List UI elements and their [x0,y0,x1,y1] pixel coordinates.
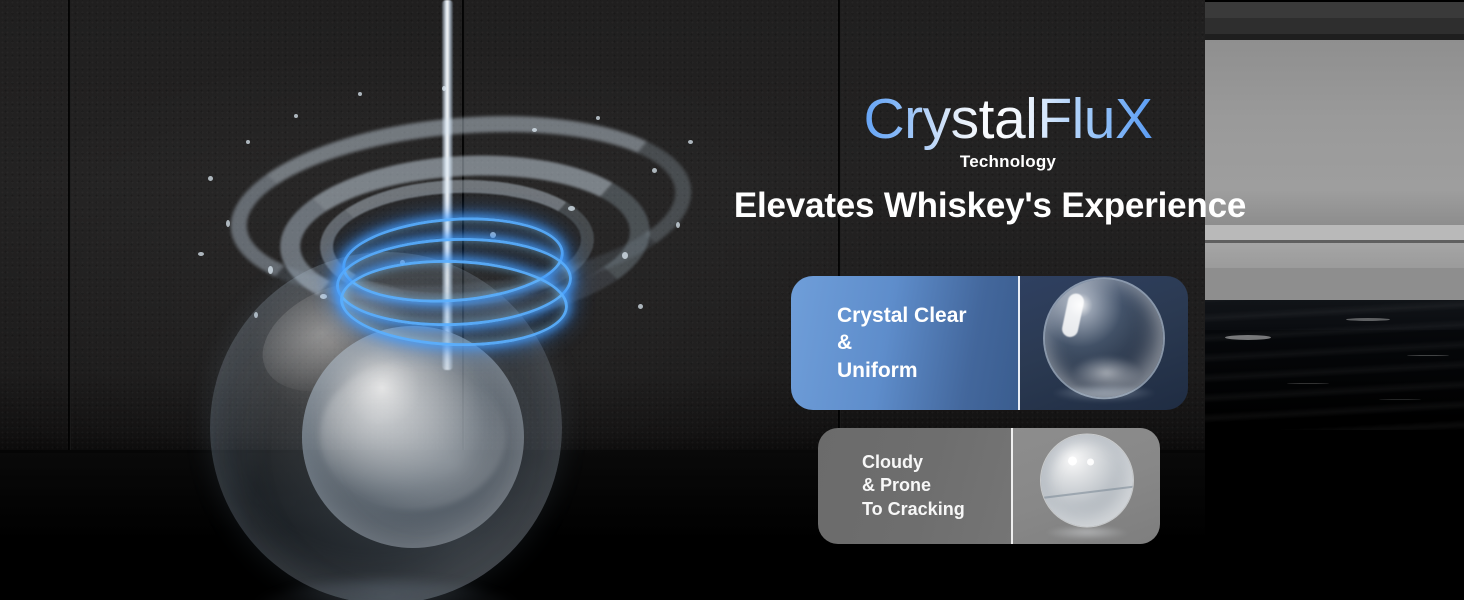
clear-ice-ball-icon [1045,279,1163,397]
brand-logo: CrystalFluX Technology [838,90,1178,172]
good-card-text-pane: Crystal Clear & Uniform [791,276,1018,410]
comparison-card-good: Crystal Clear & Uniform [791,276,1188,410]
hero-ice-sphere-image [190,60,710,560]
comparison-card-bad: Cloudy & Prone To Cracking [818,428,1160,544]
water-ripples [1205,300,1464,430]
cloudy-ice-ball-icon [1041,434,1133,526]
panel-seam-1 [68,0,71,452]
brand-subtitle: Technology [838,152,1178,172]
good-card-label: Crystal Clear & Uniform [837,302,967,384]
bad-card-label: Cloudy & Prone To Cracking [862,451,965,520]
clear-ball-shadow [1052,386,1156,402]
bad-card-text-pane: Cloudy & Prone To Cracking [818,428,1011,544]
background-right-scene [1205,0,1464,600]
good-card-image-pane [1020,276,1188,410]
bad-card-image-pane [1013,428,1160,544]
product-banner: CrystalFluX Technology Elevates Whiskey'… [0,0,1464,600]
cloudy-ball-shadow [1045,527,1129,540]
brand-name: CrystalFluX [838,90,1178,150]
ice-frost-highlight [320,360,506,510]
headline-text: Elevates Whiskey's Experience [700,186,1280,226]
